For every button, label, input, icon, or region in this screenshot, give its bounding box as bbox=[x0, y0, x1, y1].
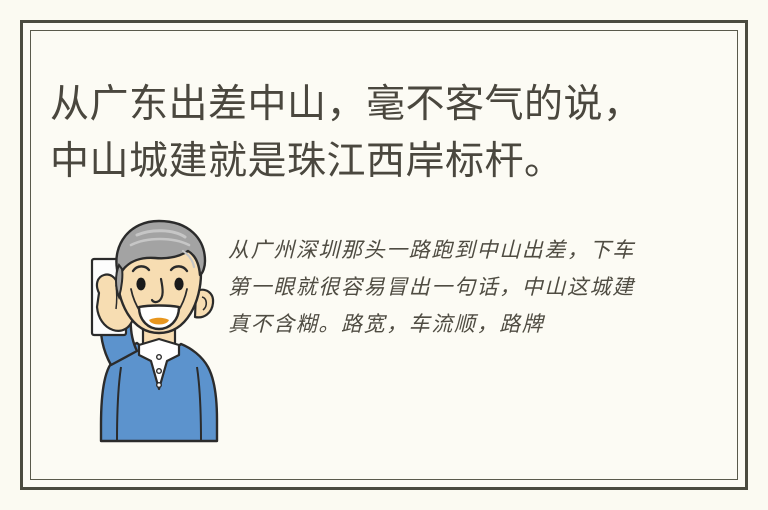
article-card: 从广东出差中山，毫不客气的说，中山城建就是珠江西岸标杆。 bbox=[20, 20, 748, 490]
article-body: 从广州深圳那头一路跑到中山出差，下车第一眼就很容易冒出一句话，中山这城建真不含糊… bbox=[228, 211, 646, 364]
article-body-text: 从广州深圳那头一路跑到中山出差，下车第一眼就很容易冒出一句话，中山这城建真不含糊… bbox=[228, 232, 646, 343]
page-title: 从广东出差中山，毫不客气的说，中山城建就是珠江西岸标杆。 bbox=[50, 76, 675, 190]
illustration-elderly-man-on-phone bbox=[75, 215, 243, 443]
elderly-man-on-phone-icon bbox=[75, 215, 243, 443]
